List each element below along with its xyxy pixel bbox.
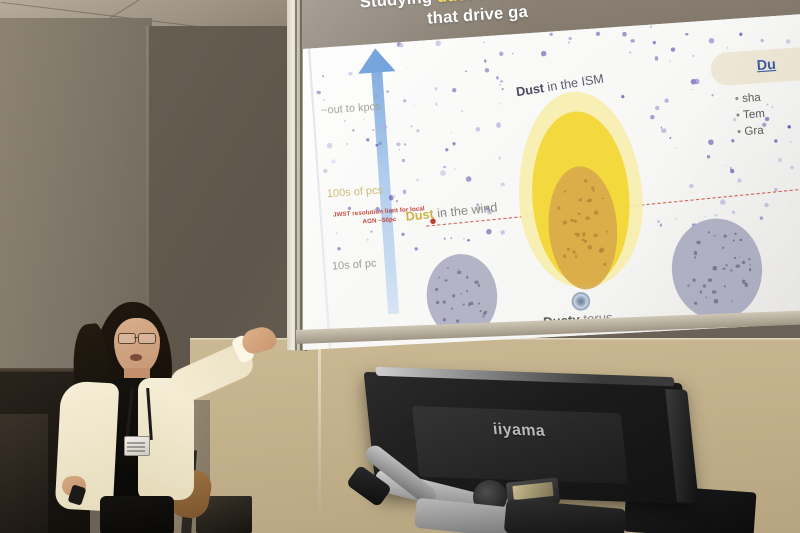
wall-vertical-seam [318, 340, 321, 533]
name-badge [124, 436, 150, 456]
presenter [44, 300, 274, 533]
slide-body: ~out to kpcs 100s of pcs JWST resolution… [303, 12, 800, 350]
label-ism-bold: Dust [515, 82, 545, 99]
monitor-arm-base-dark [504, 499, 627, 533]
screenshot-stage: Studying dust in & ar that drive ga ~out… [0, 0, 800, 533]
presenter-pants [100, 496, 174, 533]
monitor-housing [412, 406, 628, 484]
slide: Studying dust in & ar that drive ga ~out… [303, 0, 800, 350]
up-arrow-icon [357, 47, 396, 74]
monitor-brand-logo: iiyama [492, 421, 546, 441]
label-wind-rest: in the wind [433, 201, 498, 221]
info-panel-pill [710, 42, 800, 86]
info-panel-bullets: sha Tem Gra [734, 82, 800, 141]
axis-label-10pc: 10s of pc [332, 258, 377, 273]
info-panel-title: Du [756, 56, 776, 74]
axis-label-100pcs: 100s of pcs [327, 185, 384, 201]
accretion-disk-icon [571, 291, 591, 311]
axis-label-kpcs: ~out to kpcs [321, 101, 381, 117]
dark-furniture-secondary [0, 414, 48, 533]
presenter-mouth [130, 354, 142, 361]
projection-screen: Studying dust in & ar that drive ga ~out… [303, 0, 800, 350]
dusty-torus-right [668, 216, 765, 323]
monitor: iiyama [355, 368, 755, 533]
glasses-icon [118, 333, 158, 342]
